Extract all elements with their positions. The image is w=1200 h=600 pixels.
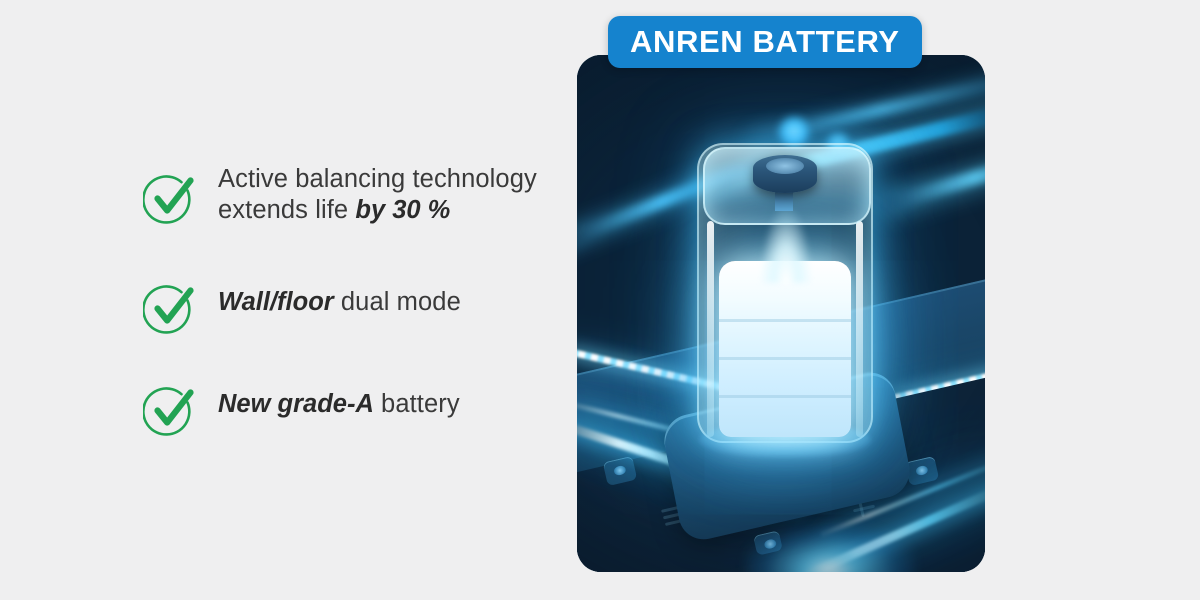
feature-text: Active balancing technology extends life…	[218, 164, 548, 226]
feature-text: New grade-A battery	[218, 389, 460, 420]
feature-text: Wall/floor dual mode	[218, 287, 461, 318]
check-circle-icon	[143, 382, 199, 438]
feature-text-emphasis: by 30 %	[355, 196, 450, 224]
feature-text-emphasis: Wall/floor	[218, 288, 334, 316]
product-title-badge: ANREN BATTERY	[608, 16, 922, 68]
feature-item: New grade-A battery	[143, 380, 460, 438]
feature-text-emphasis: New grade-A	[218, 390, 374, 418]
core-seam	[719, 395, 851, 398]
battery-cell	[697, 143, 873, 443]
core-seam	[719, 357, 851, 360]
battery-core	[719, 261, 851, 437]
feature-text-plain: dual mode	[334, 288, 461, 316]
core-seam	[719, 319, 851, 322]
product-photo	[577, 55, 985, 572]
battery-cap	[753, 155, 817, 193]
feature-item: Active balancing technology extends life…	[143, 168, 548, 226]
glass-highlight	[707, 221, 714, 437]
check-circle-icon	[143, 170, 199, 226]
feature-item: Wall/floor dual mode	[143, 278, 461, 336]
feature-text-plain: battery	[374, 390, 460, 418]
product-feature-banner: Active balancing technology extends life…	[0, 0, 1200, 600]
check-circle-icon	[143, 280, 199, 336]
glass-highlight	[856, 221, 863, 437]
energy-burst	[745, 525, 915, 572]
